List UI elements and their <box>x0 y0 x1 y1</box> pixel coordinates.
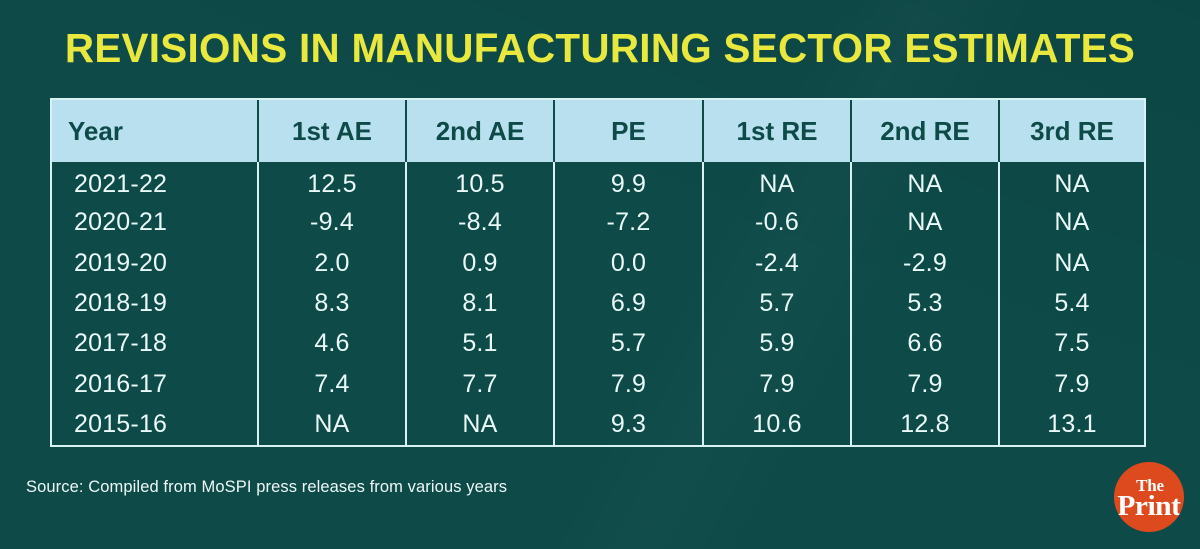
cell-2nd-ae: 8.1 <box>406 283 554 323</box>
cell-3rd-re: NA <box>999 162 1144 202</box>
cell-1st-ae: -9.4 <box>258 202 406 242</box>
table-body: 2021-22 12.5 10.5 9.9 NA NA NA 2020-21 -… <box>52 162 1144 445</box>
cell-year: 2021-22 <box>52 162 258 202</box>
cell-1st-ae: 2.0 <box>258 243 406 283</box>
cell-year: 2018-19 <box>52 283 258 323</box>
cell-3rd-re: NA <box>999 243 1144 283</box>
cell-2nd-ae: 10.5 <box>406 162 554 202</box>
cell-pe: 5.7 <box>554 324 703 364</box>
cell-1st-re: -2.4 <box>703 243 851 283</box>
cell-2nd-re: 12.8 <box>851 405 999 445</box>
cell-1st-re: -0.6 <box>703 202 851 242</box>
cell-1st-ae: 12.5 <box>258 162 406 202</box>
cell-3rd-re: 7.5 <box>999 324 1144 364</box>
table-header: Year 1st AE 2nd AE PE 1st RE 2nd RE 3rd … <box>52 100 1144 162</box>
cell-pe: 9.9 <box>554 162 703 202</box>
column-header-pe: PE <box>554 100 703 162</box>
theprint-logo: The Print <box>1114 462 1184 532</box>
data-table-container: Year 1st AE 2nd AE PE 1st RE 2nd RE 3rd … <box>50 98 1146 447</box>
cell-pe: 0.0 <box>554 243 703 283</box>
table-row: 2021-22 12.5 10.5 9.9 NA NA NA <box>52 162 1144 202</box>
column-header-year: Year <box>52 100 258 162</box>
cell-2nd-ae: NA <box>406 405 554 445</box>
table-row: 2019-20 2.0 0.9 0.0 -2.4 -2.9 NA <box>52 243 1144 283</box>
cell-year: 2020-21 <box>52 202 258 242</box>
cell-3rd-re: 13.1 <box>999 405 1144 445</box>
cell-1st-re: 10.6 <box>703 405 851 445</box>
cell-2nd-ae: 5.1 <box>406 324 554 364</box>
cell-1st-re: 5.9 <box>703 324 851 364</box>
cell-1st-ae: 4.6 <box>258 324 406 364</box>
cell-2nd-re: NA <box>851 162 999 202</box>
cell-1st-re: NA <box>703 162 851 202</box>
table-row: 2020-21 -9.4 -8.4 -7.2 -0.6 NA NA <box>52 202 1144 242</box>
page-title: REVISIONS IN MANUFACTURING SECTOR ESTIMA… <box>9 24 1191 72</box>
infographic-canvas: REVISIONS IN MANUFACTURING SECTOR ESTIMA… <box>0 0 1200 549</box>
cell-2nd-ae: -8.4 <box>406 202 554 242</box>
cell-2nd-re: 5.3 <box>851 283 999 323</box>
cell-1st-ae: NA <box>258 405 406 445</box>
column-header-3rd-re: 3rd RE <box>999 100 1144 162</box>
cell-2nd-re: NA <box>851 202 999 242</box>
cell-2nd-re: -2.9 <box>851 243 999 283</box>
cell-year: 2016-17 <box>52 364 258 404</box>
cell-3rd-re: 7.9 <box>999 364 1144 404</box>
cell-year: 2019-20 <box>52 243 258 283</box>
cell-pe: 9.3 <box>554 405 703 445</box>
table-header-row: Year 1st AE 2nd AE PE 1st RE 2nd RE 3rd … <box>52 100 1144 162</box>
column-header-1st-re: 1st RE <box>703 100 851 162</box>
column-header-1st-ae: 1st AE <box>258 100 406 162</box>
table-row: 2017-18 4.6 5.1 5.7 5.9 6.6 7.5 <box>52 324 1144 364</box>
column-header-2nd-ae: 2nd AE <box>406 100 554 162</box>
table-row: 2018-19 8.3 8.1 6.9 5.7 5.3 5.4 <box>52 283 1144 323</box>
cell-2nd-re: 6.6 <box>851 324 999 364</box>
cell-2nd-ae: 0.9 <box>406 243 554 283</box>
revisions-table: Year 1st AE 2nd AE PE 1st RE 2nd RE 3rd … <box>52 100 1144 445</box>
table-row: 2015-16 NA NA 9.3 10.6 12.8 13.1 <box>52 405 1144 445</box>
table-row: 2016-17 7.4 7.7 7.9 7.9 7.9 7.9 <box>52 364 1144 404</box>
cell-year: 2017-18 <box>52 324 258 364</box>
cell-pe: -7.2 <box>554 202 703 242</box>
cell-pe: 7.9 <box>554 364 703 404</box>
cell-2nd-re: 7.9 <box>851 364 999 404</box>
cell-1st-re: 5.7 <box>703 283 851 323</box>
cell-year: 2015-16 <box>52 405 258 445</box>
cell-pe: 6.9 <box>554 283 703 323</box>
cell-2nd-ae: 7.7 <box>406 364 554 404</box>
column-header-2nd-re: 2nd RE <box>851 100 999 162</box>
cell-3rd-re: NA <box>999 202 1144 242</box>
logo-text-print: Print <box>1117 493 1180 520</box>
cell-1st-re: 7.9 <box>703 364 851 404</box>
cell-3rd-re: 5.4 <box>999 283 1144 323</box>
source-note: Source: Compiled from MoSPI press releas… <box>26 478 507 497</box>
cell-1st-ae: 7.4 <box>258 364 406 404</box>
cell-1st-ae: 8.3 <box>258 283 406 323</box>
